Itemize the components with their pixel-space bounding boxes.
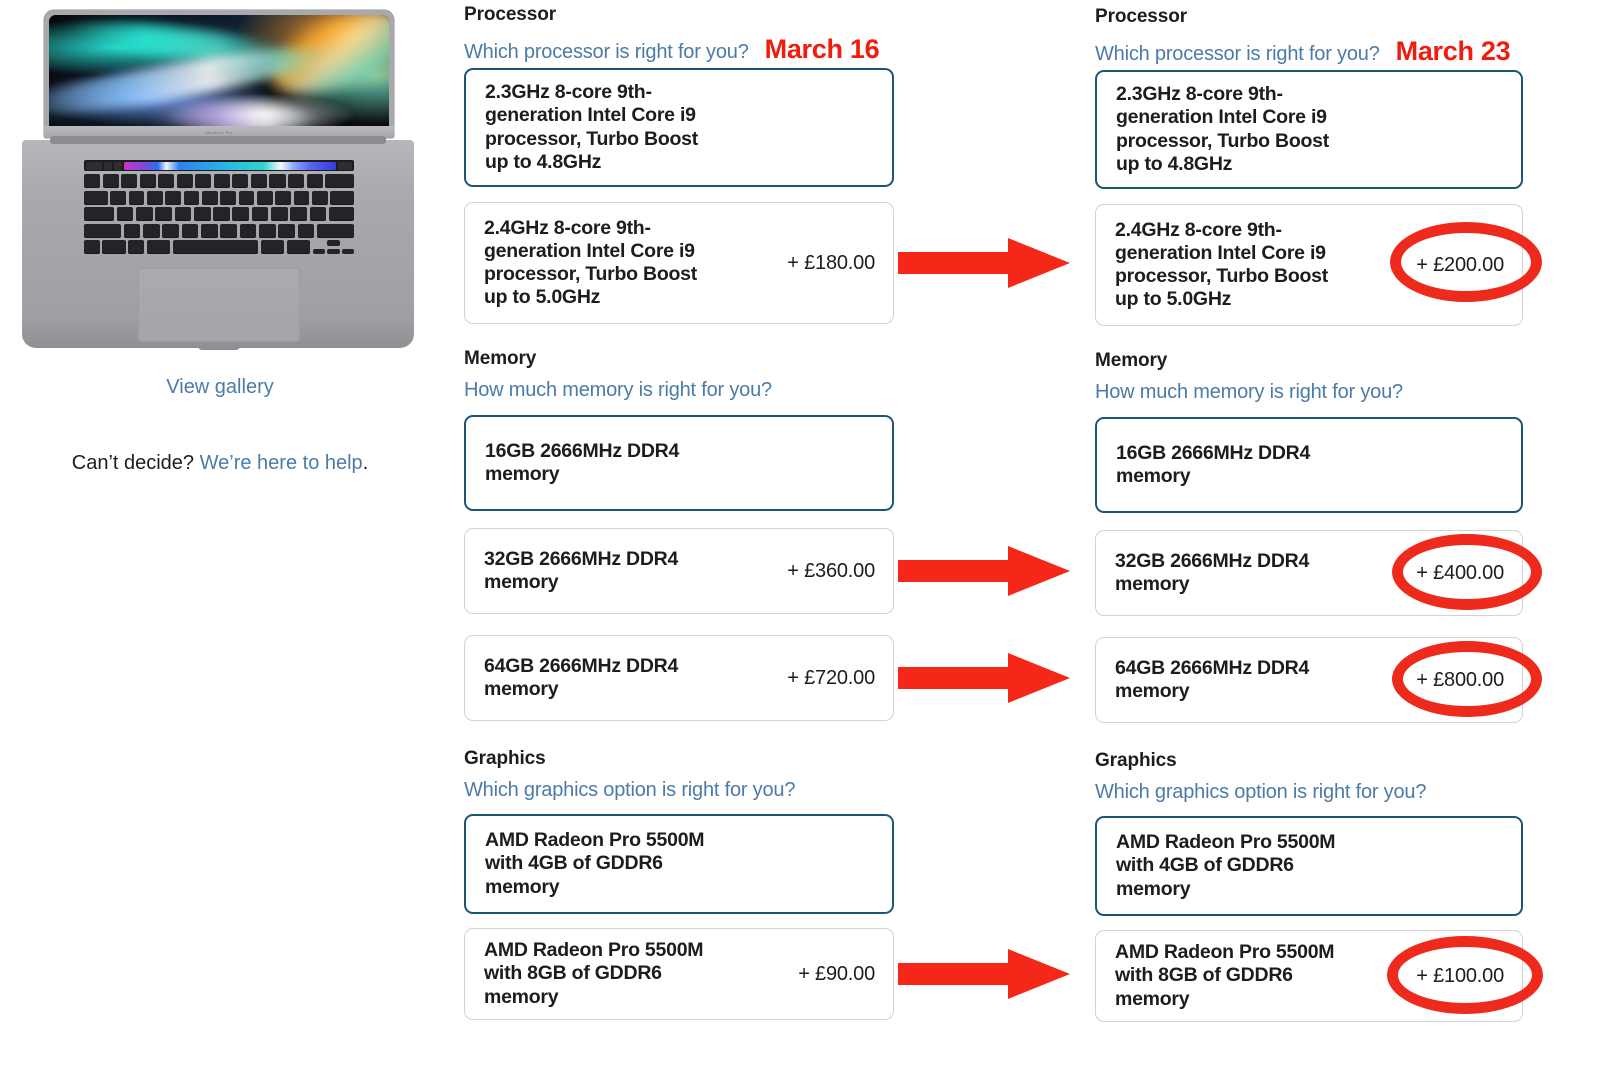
- touch-bar: [84, 160, 354, 171]
- option-label: 2.4GHz 8-core 9th-generation Intel Core …: [484, 217, 719, 310]
- option-label: 32GB 2666MHz DDR4 memory: [1115, 550, 1350, 596]
- option-label: 2.3GHz 8-core 9th-generation Intel Core …: [485, 81, 720, 174]
- option-label: AMD Radeon Pro 5500M with 8GB of GDDR6 m…: [484, 939, 719, 1009]
- laptop-base: [22, 140, 414, 348]
- option-price: + £90.00: [798, 963, 875, 986]
- section-title-processor: Processor: [464, 4, 556, 26]
- key-row: [84, 191, 354, 205]
- option-memory-2[interactable]: 64GB 2666MHz DDR4 memory+ £800.00: [1095, 637, 1523, 723]
- help-suffix: .: [363, 452, 369, 474]
- arrow-head: [1008, 653, 1070, 703]
- touch-bar-gradient: [124, 162, 336, 170]
- option-memory-0[interactable]: 16GB 2666MHz DDR4 memory: [464, 415, 894, 511]
- option-graphics-1[interactable]: AMD Radeon Pro 5500M with 8GB of GDDR6 m…: [464, 928, 894, 1020]
- lid-opening-notch: [198, 345, 240, 350]
- section-subtitle-row-memory: How much memory is right for you?: [1095, 381, 1403, 404]
- section-subtitle-memory[interactable]: How much memory is right for you?: [464, 379, 772, 402]
- trackpad: [138, 268, 300, 342]
- section-subtitle-row-memory: How much memory is right for you?: [464, 379, 772, 402]
- option-label: 64GB 2666MHz DDR4 memory: [484, 655, 719, 701]
- option-memory-1[interactable]: 32GB 2666MHz DDR4 memory+ £360.00: [464, 528, 894, 614]
- option-price: + £200.00: [1416, 254, 1504, 277]
- section-subtitle-row-graphics: Which graphics option is right for you?: [464, 779, 795, 802]
- option-price: + £180.00: [787, 252, 875, 275]
- price-comparison-page: MacBook Pro: [0, 0, 1600, 1065]
- section-subtitle-graphics[interactable]: Which graphics option is right for you?: [464, 779, 795, 802]
- arrow-shaft: [898, 252, 1016, 274]
- key-row: [84, 174, 354, 188]
- laptop-lid: MacBook Pro: [44, 10, 394, 138]
- key-row: [84, 207, 354, 221]
- option-label: 32GB 2666MHz DDR4 memory: [484, 548, 719, 594]
- option-label: 16GB 2666MHz DDR4 memory: [1116, 442, 1351, 488]
- help-text: Can’t decide? We’re here to help.: [0, 452, 440, 475]
- macbook-pro-image: MacBook Pro: [22, 2, 414, 354]
- section-subtitle-processor[interactable]: Which processor is right for you?: [464, 41, 749, 64]
- brightness-icon: [104, 162, 112, 170]
- arrow-keys: [313, 240, 354, 254]
- option-price: + £360.00: [787, 560, 875, 583]
- option-label: 64GB 2666MHz DDR4 memory: [1115, 657, 1350, 703]
- arrow-head: [1008, 238, 1070, 288]
- section-subtitle-row-processor: Which processor is right for you?March 1…: [464, 34, 879, 65]
- option-label: 2.3GHz 8-core 9th-generation Intel Core …: [1116, 83, 1351, 176]
- option-price: + £400.00: [1416, 562, 1504, 585]
- section-subtitle-row-graphics: Which graphics option is right for you?: [1095, 781, 1426, 804]
- date-annotation-march-23: March 23: [1396, 36, 1511, 67]
- laptop-hinge: [50, 136, 386, 144]
- arrow-shaft: [898, 963, 1016, 985]
- option-processor-1[interactable]: 2.4GHz 8-core 9th-generation Intel Core …: [464, 202, 894, 324]
- option-memory-1[interactable]: 32GB 2666MHz DDR4 memory+ £400.00: [1095, 530, 1523, 616]
- option-price: + £720.00: [787, 667, 875, 690]
- section-title-graphics: Graphics: [464, 748, 546, 770]
- keyboard: [84, 174, 354, 260]
- section-title-processor: Processor: [1095, 6, 1187, 28]
- view-gallery-link[interactable]: View gallery: [0, 376, 440, 399]
- arrow-head: [1008, 949, 1070, 999]
- option-memory-2[interactable]: 64GB 2666MHz DDR4 memory+ £720.00: [464, 635, 894, 721]
- here-to-help-link[interactable]: We’re here to help: [200, 452, 363, 474]
- arrow-shaft: [898, 667, 1016, 689]
- arrow-head: [1008, 546, 1070, 596]
- touch-id-key: [338, 162, 352, 170]
- arrow-shaft: [898, 560, 1016, 582]
- option-label: 2.4GHz 8-core 9th-generation Intel Core …: [1115, 219, 1350, 312]
- option-price: + £100.00: [1416, 965, 1504, 988]
- option-graphics-0[interactable]: AMD Radeon Pro 5500M with 4GB of GDDR6 m…: [464, 814, 894, 914]
- option-label: 16GB 2666MHz DDR4 memory: [485, 440, 720, 486]
- option-processor-0[interactable]: 2.3GHz 8-core 9th-generation Intel Core …: [464, 68, 894, 187]
- mission-control-icon: [114, 162, 122, 170]
- section-subtitle-graphics[interactable]: Which graphics option is right for you?: [1095, 781, 1426, 804]
- option-graphics-1[interactable]: AMD Radeon Pro 5500M with 8GB of GDDR6 m…: [1095, 930, 1523, 1022]
- option-label: AMD Radeon Pro 5500M with 8GB of GDDR6 m…: [1115, 941, 1350, 1011]
- product-panel: MacBook Pro: [0, 0, 440, 1065]
- laptop-screen: [49, 15, 389, 131]
- option-label: AMD Radeon Pro 5500M with 4GB of GDDR6 m…: [1116, 831, 1351, 901]
- section-title-memory: Memory: [1095, 350, 1167, 372]
- option-processor-1[interactable]: 2.4GHz 8-core 9th-generation Intel Core …: [1095, 204, 1523, 326]
- key-row: [84, 224, 354, 238]
- key-row: [84, 240, 354, 254]
- section-title-graphics: Graphics: [1095, 750, 1177, 772]
- section-title-memory: Memory: [464, 348, 536, 370]
- option-graphics-0[interactable]: AMD Radeon Pro 5500M with 4GB of GDDR6 m…: [1095, 816, 1523, 916]
- esc-key: [86, 162, 102, 170]
- help-prefix: Can’t decide?: [72, 452, 200, 474]
- option-label: AMD Radeon Pro 5500M with 4GB of GDDR6 m…: [485, 829, 720, 899]
- section-subtitle-memory[interactable]: How much memory is right for you?: [1095, 381, 1403, 404]
- option-price: + £800.00: [1416, 669, 1504, 692]
- macbook-wordmark: MacBook Pro: [205, 130, 232, 135]
- section-subtitle-row-processor: Which processor is right for you?March 2…: [1095, 36, 1510, 67]
- option-processor-0[interactable]: 2.3GHz 8-core 9th-generation Intel Core …: [1095, 70, 1523, 189]
- date-annotation-march-16: March 16: [765, 34, 880, 65]
- option-memory-0[interactable]: 16GB 2666MHz DDR4 memory: [1095, 417, 1523, 513]
- section-subtitle-processor[interactable]: Which processor is right for you?: [1095, 43, 1380, 66]
